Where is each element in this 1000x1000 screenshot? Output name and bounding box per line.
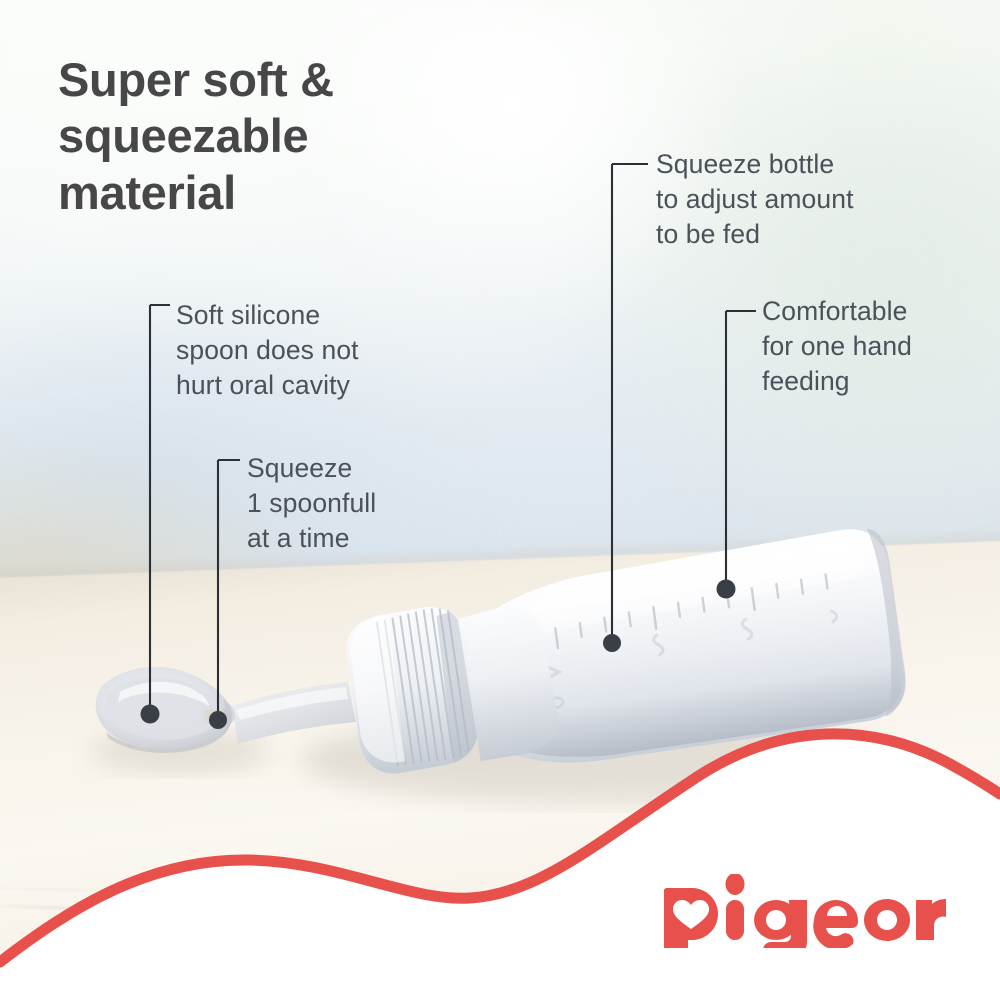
leader-dot-onehand: [717, 580, 736, 599]
callout-soft-silicone-spoon: Soft silicone spoon does not hurt oral c…: [176, 298, 359, 404]
infographic-canvas: Super soft & squeezable material Soft si…: [0, 0, 1000, 1000]
brand-wave-footer: [0, 690, 1000, 1000]
pigeon-logo: [664, 874, 946, 948]
callout-comfortable-one-hand: Comfortable for one hand feeding: [762, 294, 912, 400]
footer-white-area: [0, 734, 1000, 1000]
page-title: Super soft & squeezable material: [58, 52, 478, 221]
letter-i-dot: [726, 874, 745, 895]
leader-dot-bottle: [603, 634, 621, 652]
callout-squeeze-one-spoonfull: Squeeze 1 spoonfull at a time: [247, 451, 376, 557]
pigeon-wordmark: [664, 874, 946, 948]
callout-squeeze-bottle-adjust: Squeeze bottle to adjust amount to be fe…: [656, 147, 854, 253]
